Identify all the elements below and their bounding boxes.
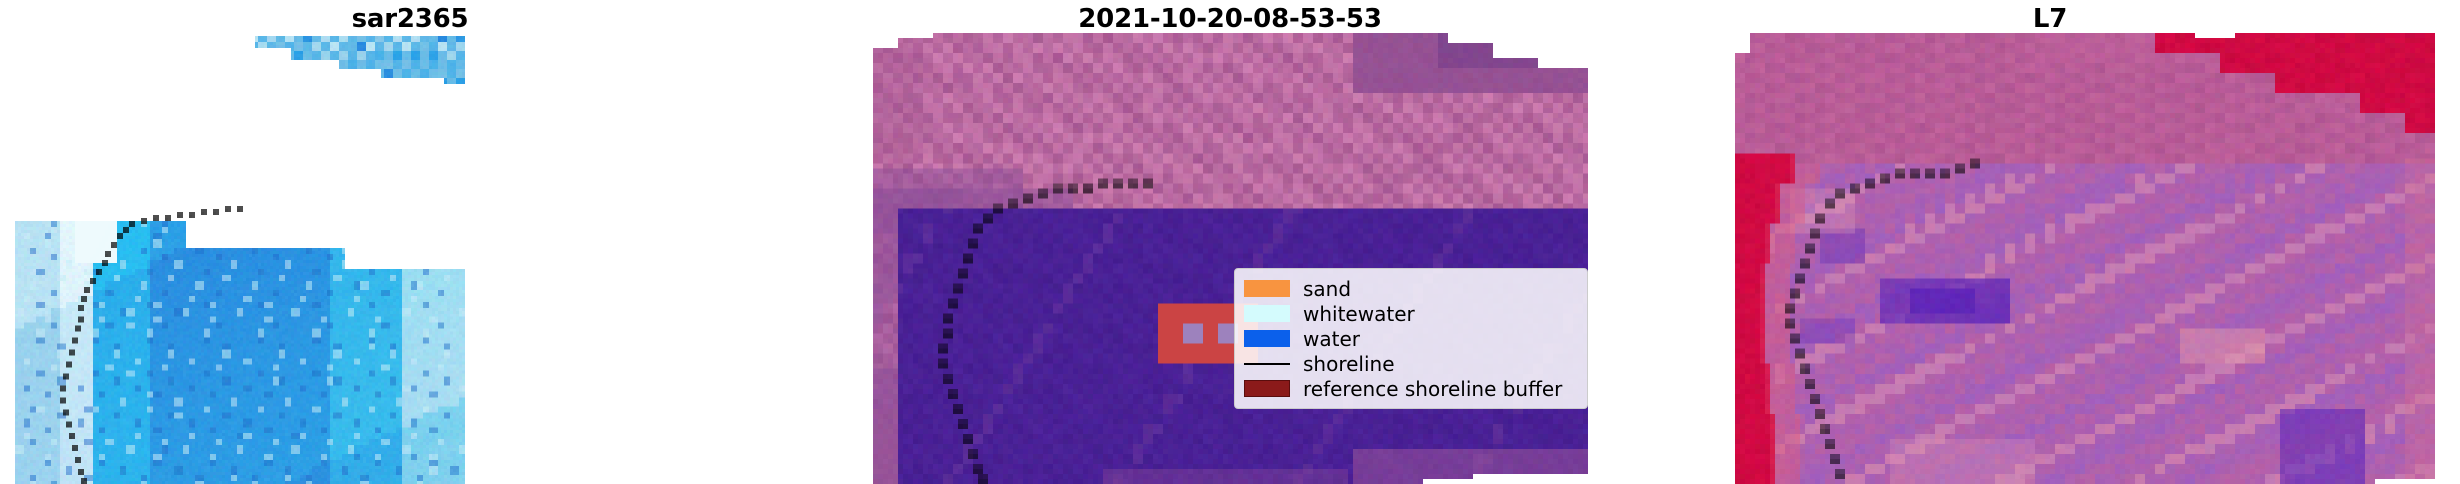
raster-rgb [873,33,1588,484]
legend-item-shoreline[interactable]: shoreline [1244,351,1577,376]
legend-label-sand: sand [1303,279,1351,299]
legend-label-whitewater: whitewater [1303,304,1415,324]
legend-label-water: water [1303,329,1360,349]
legend[interactable]: sand whitewater water shoreline referenc… [1234,268,1588,409]
axes-l7[interactable] [1735,33,2435,484]
panel-rgb: 2021-10-20-08-53-53 [820,0,1640,484]
panel-title-rgb: 2021-10-20-08-53-53 [820,4,1640,34]
panel-sar: sar2365 [0,0,820,484]
panel-title-l7: L7 [1640,4,2460,34]
legend-swatch-shoreline [1244,355,1290,372]
legend-item-sand[interactable]: sand [1244,276,1577,301]
legend-item-whitewater[interactable]: whitewater [1244,301,1577,326]
legend-swatch-reference-shoreline-buffer [1244,380,1290,397]
legend-label-shoreline: shoreline [1303,354,1395,374]
panel-title-sar: sar2365 [0,4,820,34]
raster-sar [15,33,465,484]
figure-canvas: sar2365 2021-10-20-08-53-53 L7 sand whit… [0,0,2460,484]
raster-l7 [1735,33,2435,484]
axes-sar[interactable] [15,33,465,484]
legend-label-reference-shoreline-buffer: reference shoreline buffer [1303,379,1562,399]
legend-item-water[interactable]: water [1244,326,1577,351]
panel-l7: L7 [1640,0,2460,484]
legend-item-reference-shoreline-buffer[interactable]: reference shoreline buffer [1244,376,1577,401]
legend-swatch-water [1244,330,1290,347]
legend-swatch-sand [1244,280,1290,297]
axes-rgb[interactable] [873,33,1588,484]
legend-swatch-whitewater [1244,305,1290,322]
